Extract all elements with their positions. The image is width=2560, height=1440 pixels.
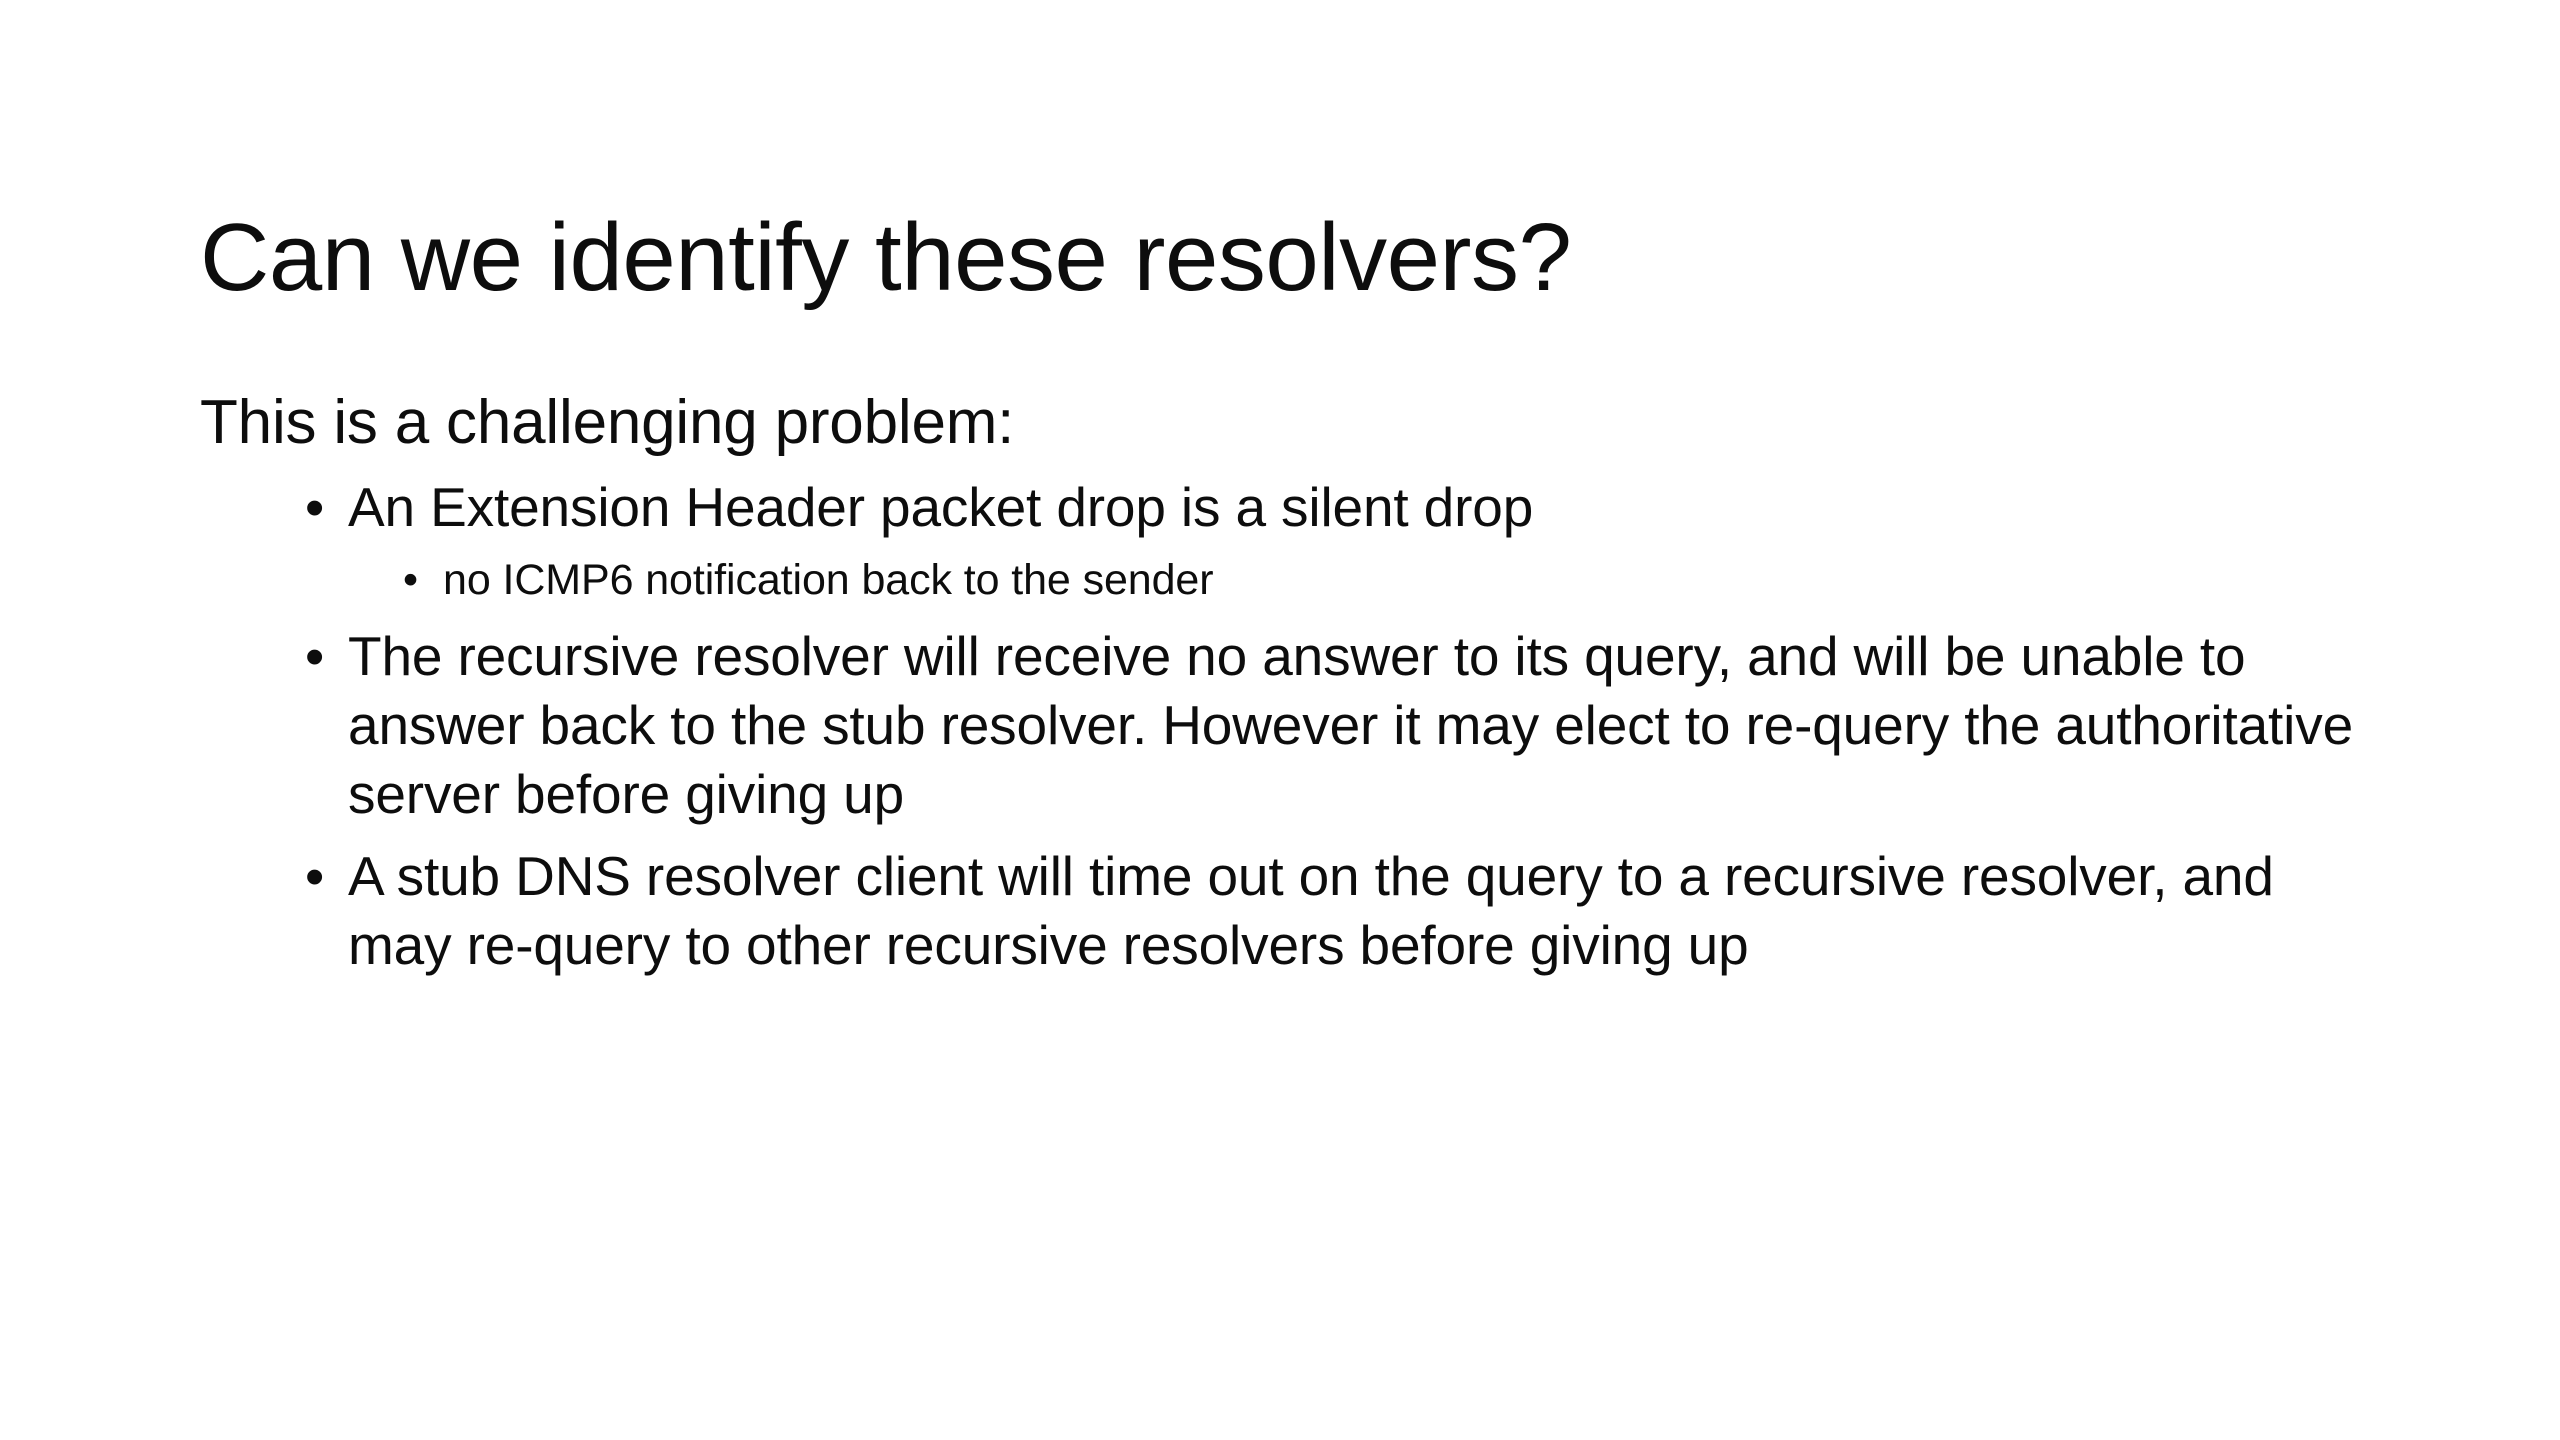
bullet-point-icon: • [305, 473, 324, 542]
list-item: • The recursive resolver will receive no… [200, 622, 2390, 829]
page-title: Can we identify these resolvers? [200, 204, 2380, 312]
slide-canvas: Can we identify these resolvers? This is… [0, 0, 2560, 1440]
list-item-label: The recursive resolver will receive no a… [348, 622, 2390, 829]
bullet-point-icon: • [403, 554, 418, 608]
list-item: • no ICMP6 notification back to the send… [348, 554, 2390, 608]
list-item-label: An Extension Header packet drop is a sil… [348, 473, 2390, 542]
list-item-label: A stub DNS resolver client will time out… [348, 842, 2390, 980]
body-lead-text: This is a challenging problem: [200, 386, 2390, 459]
list-item: • An Extension Header packet drop is a s… [200, 473, 2390, 608]
list-item-label: no ICMP6 notification back to the sender [443, 554, 2390, 608]
list-item: • A stub DNS resolver client will time o… [200, 842, 2390, 980]
slide-body: This is a challenging problem: • An Exte… [200, 386, 2390, 993]
bullet-point-icon: • [305, 842, 324, 911]
bullet-list-level1: • An Extension Header packet drop is a s… [200, 473, 2390, 980]
bullet-point-icon: • [305, 622, 324, 691]
bullet-list-level2: • no ICMP6 notification back to the send… [348, 554, 2390, 608]
